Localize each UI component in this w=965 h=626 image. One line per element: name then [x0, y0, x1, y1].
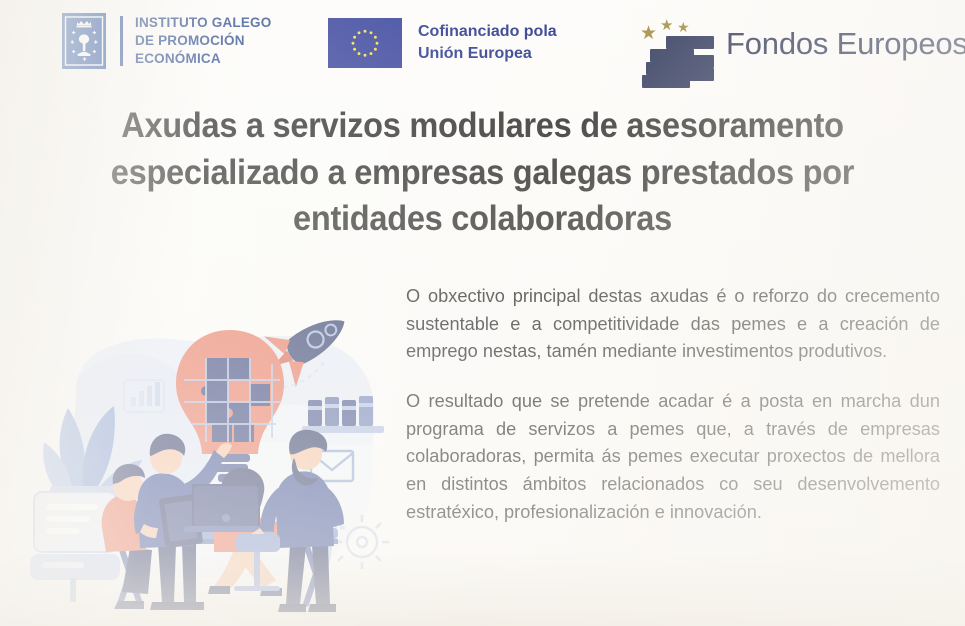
fe-star-icon: ★: [677, 20, 690, 34]
body-copy: O obxectivo principal destas axudas é o …: [406, 283, 940, 526]
shelf-with-binders: [302, 396, 384, 433]
eu-line-1: Cofinanciado pola: [418, 23, 557, 40]
european-union-logo: Cofinanciado pola Unión Europea: [328, 18, 557, 68]
page-title: Axudas a servizos modulares de asesorame…: [40, 103, 925, 243]
eu-line-2: Unión Europea: [418, 45, 532, 62]
eu-flag-icon: [328, 18, 402, 68]
xunta-de-galicia-coat-of-arms-icon: [62, 13, 106, 69]
igape-line-3: ECONÓMICA: [135, 51, 221, 66]
fondos-europeos-wordmark: Fondos Europeos: [726, 26, 965, 62]
igape-wordmark: INSTITUTO GALEGO DE PROMOCIÓN ECONÓMICA: [135, 14, 271, 68]
title-line-2: especializado a empresas galegas prestad…: [71, 150, 894, 197]
laptop: [184, 484, 270, 532]
title-line-3: entidades colaboradoras: [71, 196, 894, 243]
igape-divider: [120, 16, 123, 66]
fondos-europeos-mark-icon: ★ ★ ★: [620, 8, 716, 80]
body-paragraph-1: O obxectivo principal destas axudas é o …: [406, 283, 940, 366]
igape-line-2: DE PROMOCIÓN: [135, 33, 245, 48]
funding-logo-bar: INSTITUTO GALEGO DE PROMOCIÓN ECONÓMICA: [0, 0, 965, 92]
eu-wordmark: Cofinanciado pola Unión Europea: [418, 21, 557, 65]
fe-star-icon: ★: [660, 18, 673, 33]
fondos-europeos-logo: ★ ★ ★ Fondos Europeos: [620, 8, 965, 80]
igape-line-1: INSTITUTO GALEGO: [135, 15, 271, 30]
teamwork-illustration: [6, 296, 398, 618]
poster-page: INSTITUTO GALEGO DE PROMOCIÓN ECONÓMICA: [0, 0, 965, 626]
igape-logo: INSTITUTO GALEGO DE PROMOCIÓN ECONÓMICA: [62, 13, 271, 69]
body-paragraph-2: O resultado que se pretende acadar é a p…: [406, 388, 940, 526]
fe-star-icon: ★: [640, 24, 657, 43]
title-line-1: Axudas a servizos modulares de asesorame…: [71, 103, 894, 150]
